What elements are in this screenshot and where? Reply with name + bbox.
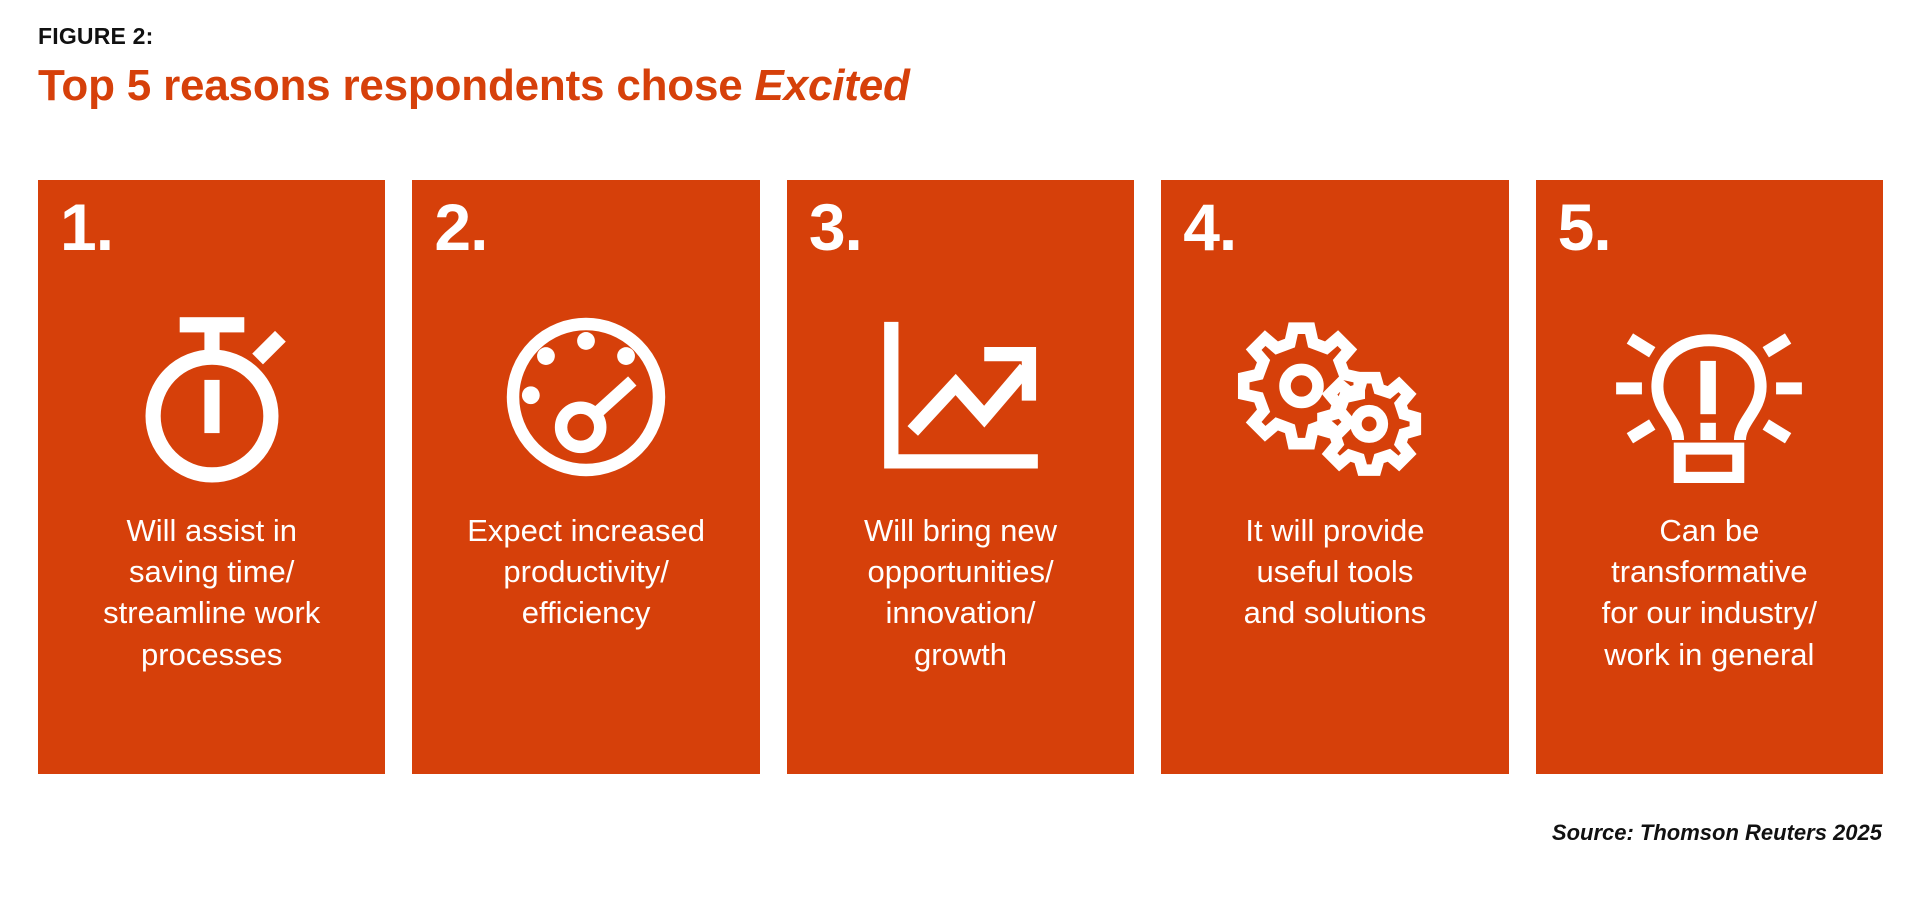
card-text-4: It will provide useful tools and solutio… <box>1161 510 1508 634</box>
card-text-1: Will assist in saving time/ streamline w… <box>38 510 385 675</box>
reason-card-5: 5. <box>1536 180 1883 774</box>
reason-card-1: 1. Will assist in saving time/ streamlin… <box>38 180 385 774</box>
card-number-5: 5. <box>1558 194 1611 260</box>
card-text-5: Can be transformative for our industry/ … <box>1536 510 1883 675</box>
page-title: Top 5 reasons respondents chose Excited <box>38 61 1538 112</box>
card-number-2: 2. <box>434 194 487 260</box>
reasons-card-row: 1. Will assist in saving time/ streamlin… <box>38 180 1883 774</box>
card-number-1: 1. <box>60 194 113 260</box>
figure-header: FIGURE 2: Top 5 reasons respondents chos… <box>38 22 1538 111</box>
card-number-3: 3. <box>809 194 862 260</box>
reason-card-4: 4. It will provide useful tools and solu… <box>1161 180 1508 774</box>
card-text-3: Will bring new opportunities/ innovation… <box>787 510 1134 675</box>
page-title-prefix: Top 5 reasons respondents chose <box>38 61 755 110</box>
stopwatch-icon <box>38 302 385 492</box>
figure-label: FIGURE 2: <box>38 22 1538 51</box>
gears-icon <box>1161 302 1508 492</box>
figure-container: FIGURE 2: Top 5 reasons respondents chos… <box>0 0 1920 900</box>
lightbulb-idea-icon <box>1536 302 1883 492</box>
page-title-emphasis: Excited <box>755 61 910 110</box>
card-number-4: 4. <box>1183 194 1236 260</box>
growth-chart-icon <box>787 302 1134 492</box>
reason-card-3: 3. Will bring new opportunities/ innovat… <box>787 180 1134 774</box>
source-note: Source: Thomson Reuters 2025 <box>1552 820 1882 846</box>
reason-card-2: 2. Expect increased productivity/ effici… <box>412 180 759 774</box>
gauge-icon <box>412 302 759 492</box>
card-text-2: Expect increased productivity/ efficienc… <box>412 510 759 634</box>
